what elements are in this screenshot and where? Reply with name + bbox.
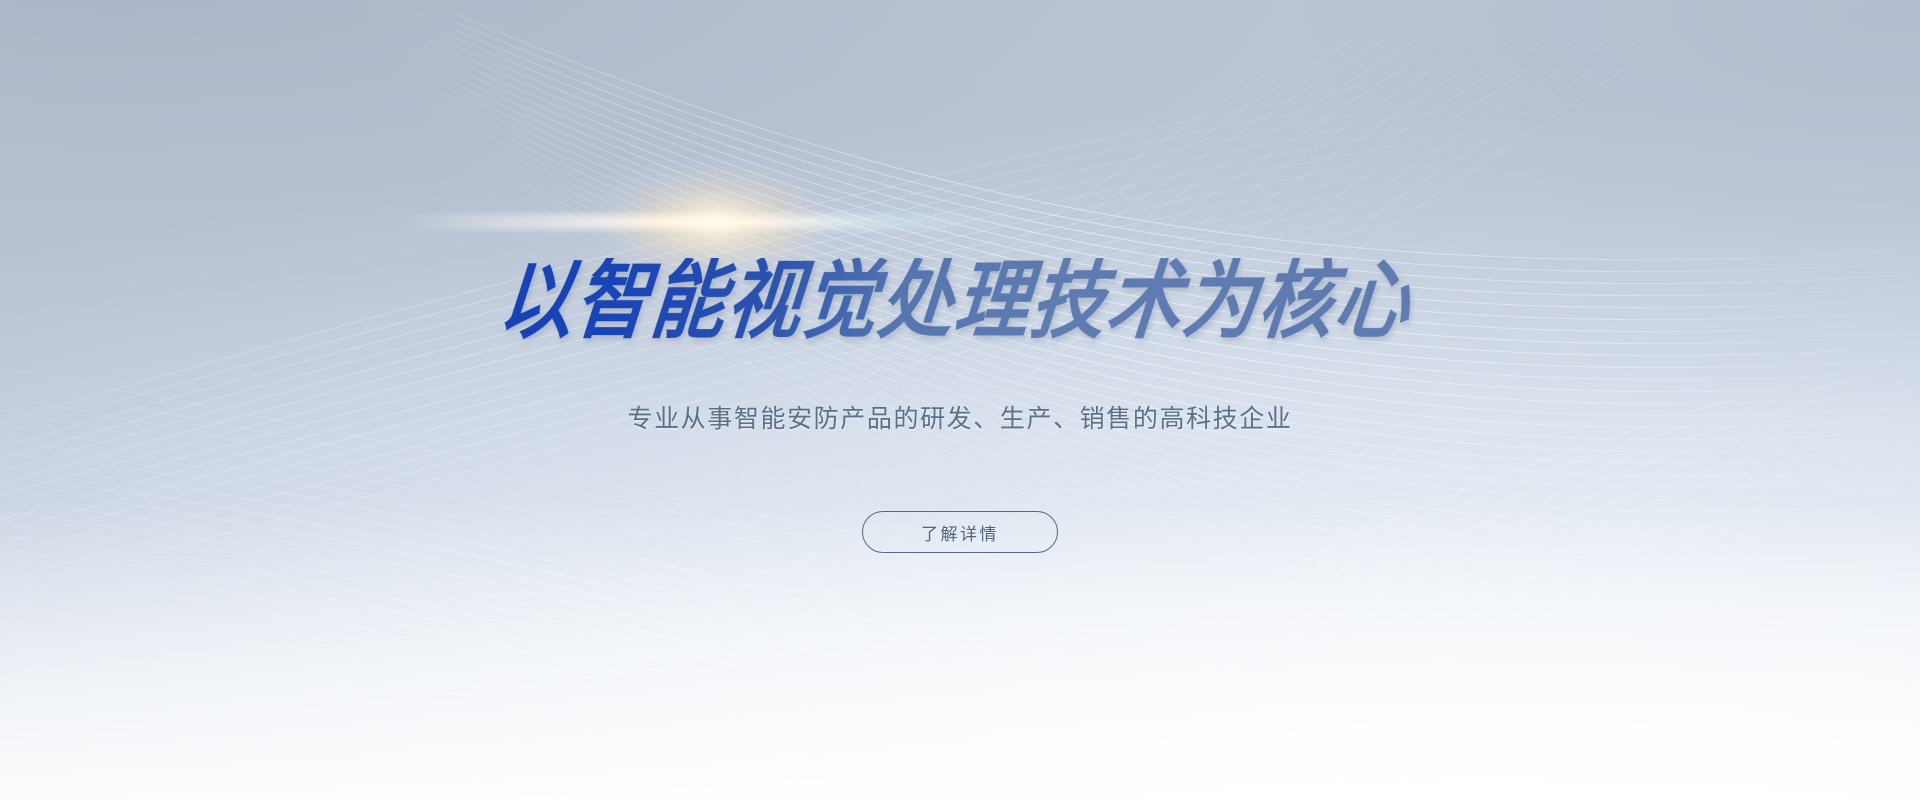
hero-cta-container: 了解详情 <box>0 511 1920 553</box>
hero-banner: 以智能视觉处理技术为核心 专业从事智能安防产品的研发、生产、销售的高科技企业 了… <box>0 0 1920 800</box>
learn-more-button[interactable]: 了解详情 <box>862 511 1058 553</box>
hero-subtitle: 专业从事智能安防产品的研发、生产、销售的高科技企业 <box>0 402 1920 437</box>
lens-flare-icon <box>715 222 716 223</box>
hero-headline: 以智能视觉处理技术为核心 <box>0 258 1920 344</box>
